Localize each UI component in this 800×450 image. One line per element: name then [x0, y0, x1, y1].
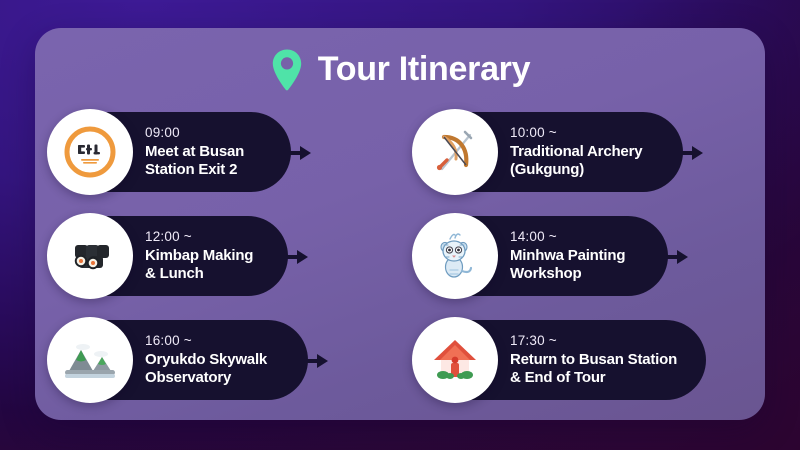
step-label-line1: Minhwa Painting	[510, 247, 625, 264]
step-text: 17:30 ~ Return to Busan Station & End of…	[510, 333, 677, 387]
step-time: 14:00 ~	[510, 229, 625, 246]
page-title: Tour Itinerary	[0, 46, 800, 92]
itinerary-row: 16:00 ~ Oryukdo Skywalk Observatory	[35, 320, 765, 404]
itinerary-cell: 09:00 Meet at Busan Station Exit 2	[35, 112, 400, 196]
step-text: 14:00 ~ Minhwa Painting Workshop	[510, 229, 625, 283]
step-label: Meet at Busan Station Exit 2	[145, 143, 244, 179]
step-label-line1: Meet at Busan	[145, 143, 244, 160]
step-label-line2: Station Exit 2	[145, 161, 237, 178]
itinerary-row: 09:00 Meet at Busan Station Exit 2	[35, 112, 765, 196]
step-label-line2: Observatory	[145, 369, 231, 386]
step-label: Return to Busan Station & End of Tour	[510, 351, 677, 387]
step-time: 17:30 ~	[510, 333, 677, 350]
step-label-line1: Traditional Archery	[510, 143, 642, 160]
map-pin-icon	[270, 48, 304, 92]
itinerary-step-5[interactable]: 16:00 ~ Oryukdo Skywalk Observatory	[53, 320, 308, 400]
step-label-line1: Return to Busan Station	[510, 351, 677, 368]
step-label-line1: Oryukdo Skywalk	[145, 351, 267, 368]
step-text: 10:00 ~ Traditional Archery (Gukgung)	[510, 125, 642, 179]
step-label-line2: Workshop	[510, 265, 581, 282]
folk-tiger-icon	[412, 213, 498, 299]
itinerary-cell: 16:00 ~ Oryukdo Skywalk Observatory	[35, 320, 400, 404]
arrow-right-icon	[278, 142, 312, 164]
step-text: 12:00 ~ Kimbap Making & Lunch	[145, 229, 253, 283]
arrow-right-icon	[655, 246, 689, 268]
itinerary-row: 12:00 ~ Kimbap Making & Lunch	[35, 216, 765, 300]
step-time: 09:00	[145, 125, 244, 142]
itinerary-cell: 12:00 ~ Kimbap Making & Lunch	[35, 216, 400, 300]
arrow-right-icon	[275, 246, 309, 268]
itinerary-step-4[interactable]: 14:00 ~ Minhwa Painting Workshop	[418, 216, 668, 296]
step-text: 16:00 ~ Oryukdo Skywalk Observatory	[145, 333, 267, 387]
itinerary-cell: 17:30 ~ Return to Busan Station & End of…	[400, 320, 765, 404]
step-label-line2: & End of Tour	[510, 369, 605, 386]
itinerary-step-2[interactable]: 10:00 ~ Traditional Archery (Gukgung)	[418, 112, 683, 192]
step-label-line1: Kimbap Making	[145, 247, 253, 264]
step-time: 12:00 ~	[145, 229, 253, 246]
itinerary-graphic: Tour Itinerary	[0, 0, 800, 450]
busan-station-logo-icon	[47, 109, 133, 195]
page-title-text: Tour Itinerary	[318, 52, 530, 86]
sushi-roll-icon	[47, 213, 133, 299]
step-label: Minhwa Painting Workshop	[510, 247, 625, 283]
step-label-line2: (Gukgung)	[510, 161, 584, 178]
itinerary-step-6[interactable]: 17:30 ~ Return to Busan Station & End of…	[418, 320, 706, 400]
itinerary-step-1[interactable]: 09:00 Meet at Busan Station Exit 2	[53, 112, 291, 192]
step-time: 16:00 ~	[145, 333, 267, 350]
arrow-right-icon	[670, 142, 704, 164]
step-time: 10:00 ~	[510, 125, 642, 142]
arrow-right-icon	[295, 350, 329, 372]
itinerary-step-3[interactable]: 12:00 ~ Kimbap Making & Lunch	[53, 216, 288, 296]
step-text: 09:00 Meet at Busan Station Exit 2	[145, 125, 244, 179]
house-icon	[412, 317, 498, 403]
itinerary-cell: 14:00 ~ Minhwa Painting Workshop	[400, 216, 765, 300]
step-label: Traditional Archery (Gukgung)	[510, 143, 642, 179]
bow-and-arrow-icon	[412, 109, 498, 195]
step-label-line2: & Lunch	[145, 265, 204, 282]
itinerary-steps: 09:00 Meet at Busan Station Exit 2	[35, 112, 765, 412]
mountain-island-icon	[47, 317, 133, 403]
step-label: Kimbap Making & Lunch	[145, 247, 253, 283]
itinerary-cell: 10:00 ~ Traditional Archery (Gukgung)	[400, 112, 765, 196]
step-label: Oryukdo Skywalk Observatory	[145, 351, 267, 387]
